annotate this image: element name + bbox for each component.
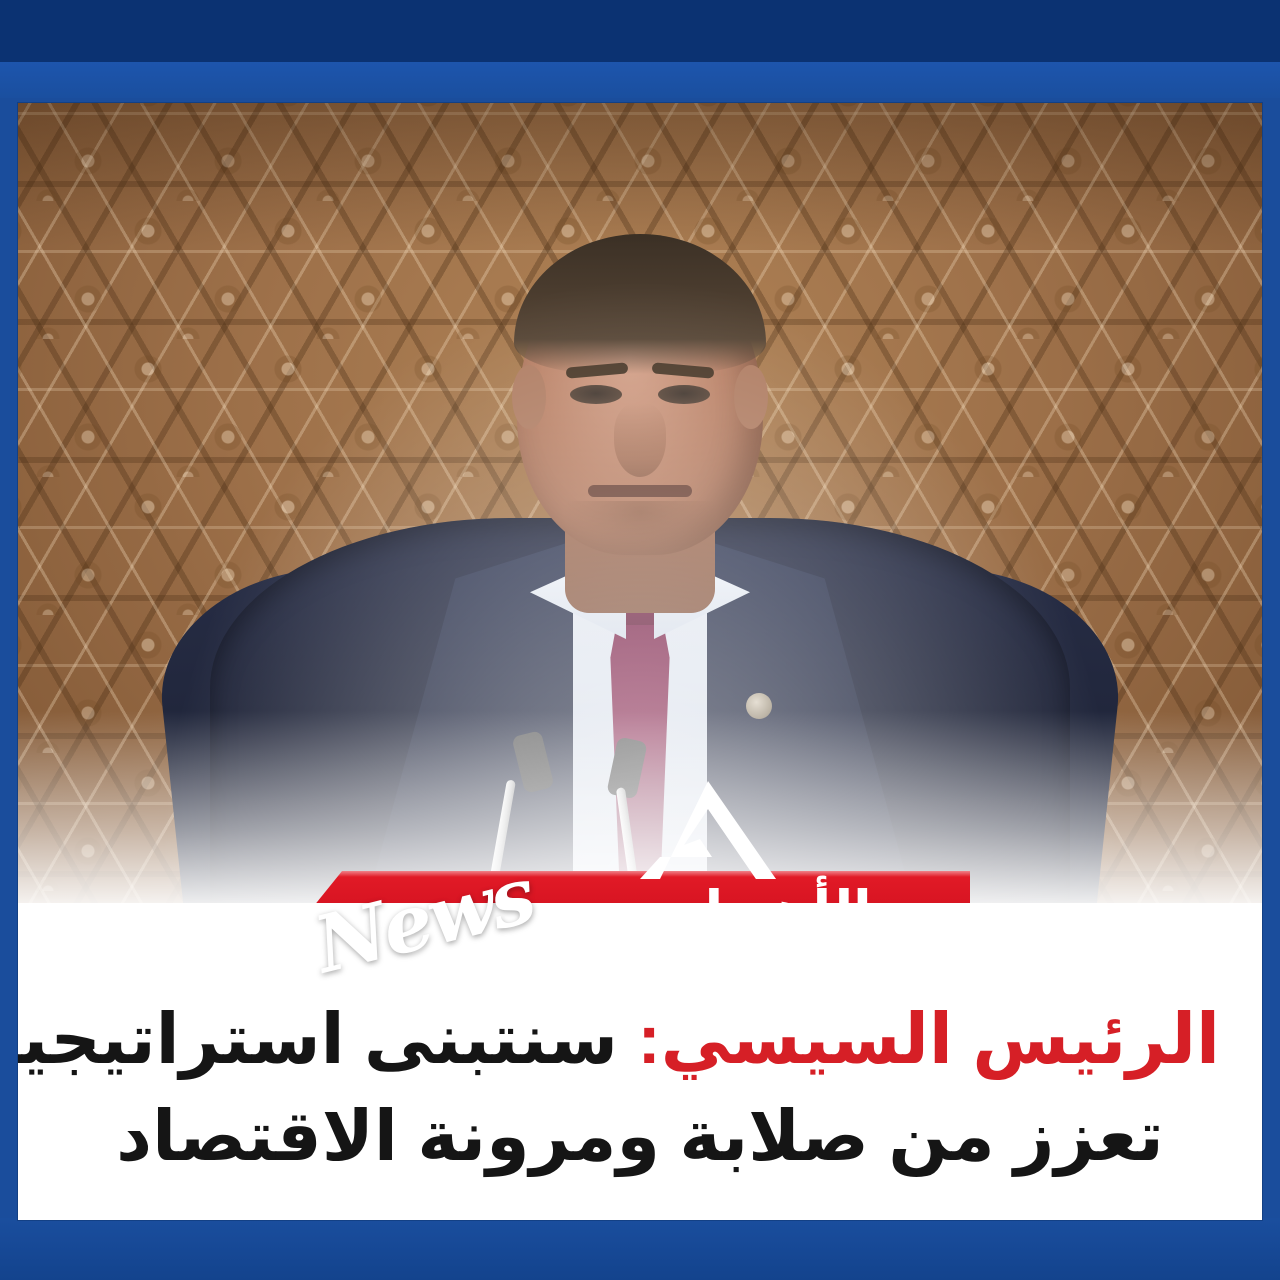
frame-top-strip: [0, 0, 1280, 62]
headline-line-2: تعزز من صلابة ومرونة الاقتصاد: [60, 1088, 1220, 1185]
content-card: News الأهـرام.نيـوز صحـافة حـرة مسـؤلة ا…: [18, 103, 1262, 1220]
headline-line-1-rest: سنتبنى استراتيجيات: [18, 1000, 637, 1078]
frame-bottom-strip: [0, 1218, 1280, 1280]
pyramid-icon: [638, 779, 778, 883]
headline-line-1: الرئيس السيسي: سنتبنى استراتيجيات: [60, 991, 1220, 1088]
headline-speaker: الرئيس السيسي:: [637, 1000, 1220, 1078]
logo-brand-name: الأهـرام.نيـوز: [448, 879, 948, 942]
frame-accent-band: [0, 62, 1280, 98]
logo-tagline: صحـافة حـرة مسـؤلة: [448, 941, 948, 971]
news-poster: News الأهـرام.نيـوز صحـافة حـرة مسـؤلة ا…: [0, 0, 1280, 1280]
